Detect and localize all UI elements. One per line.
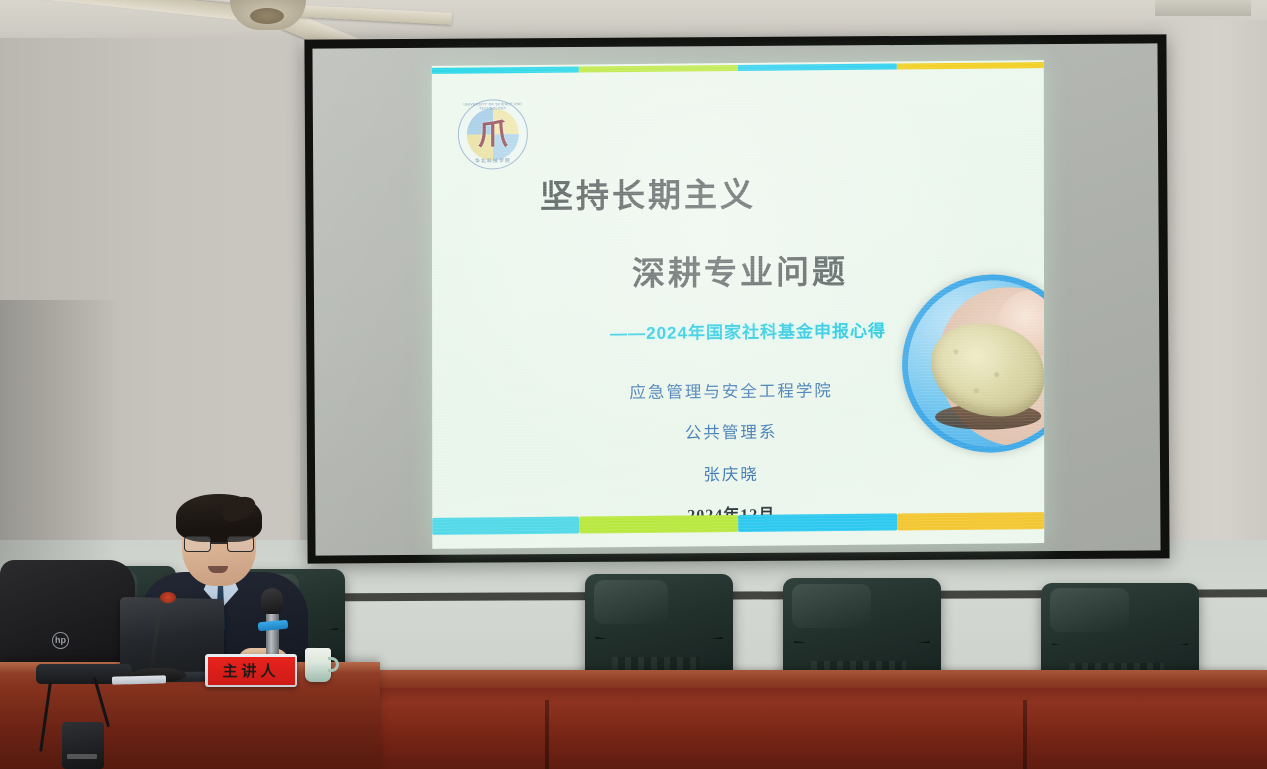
ceiling-vent [1155, 0, 1251, 16]
handheld-microphone-head [261, 588, 283, 614]
hand-holding-rock-sample-photo [902, 274, 1044, 454]
slide-affiliation-department: 公共管理系 [516, 417, 946, 445]
slide-title-line-2: 深耕专业问题 [632, 245, 848, 295]
table-seam [545, 700, 549, 769]
slide-affiliation-college: 应急管理与安全工程学院 [516, 376, 946, 404]
projection-screen-surface: UNIVERSITY OF SCIENCE AND TECHNOLOGY 爪 华… [312, 43, 1160, 555]
projected-slide: UNIVERSITY OF SCIENCE AND TECHNOLOGY 爪 华… [432, 60, 1044, 549]
projection-screen-frame: UNIVERSITY OF SCIENCE AND TECHNOLOGY 爪 华… [304, 34, 1169, 563]
slide-subtitle: ——2024年国家社科基金申报心得 [528, 316, 968, 345]
nameplate-text: 主讲人 [222, 660, 279, 681]
logo-glyph: 爪 [458, 109, 528, 154]
presenter-glasses-icon [184, 536, 254, 553]
microphone-indicator-light [160, 592, 176, 603]
university-logo-icon: UNIVERSITY OF SCIENCE AND TECHNOLOGY 爪 华… [458, 99, 528, 170]
slide-title-line-1: 坚持长期主义 [540, 168, 756, 218]
presentation-room-scene: UNIVERSITY OF SCIENCE AND TECHNOLOGY 爪 华… [0, 0, 1267, 769]
presenter-hair [176, 494, 262, 542]
table-seam [1023, 700, 1027, 769]
speaker-nameplate: 主讲人 [205, 654, 297, 687]
slide-presenter-name: 张庆晓 [516, 459, 946, 487]
coffee-mug [305, 648, 331, 682]
black-device-box [62, 722, 104, 769]
logo-arc-text-cn: 华北科技学院 [458, 157, 528, 165]
paper-sheet [112, 675, 166, 684]
hp-logo-icon: hp [52, 632, 69, 649]
